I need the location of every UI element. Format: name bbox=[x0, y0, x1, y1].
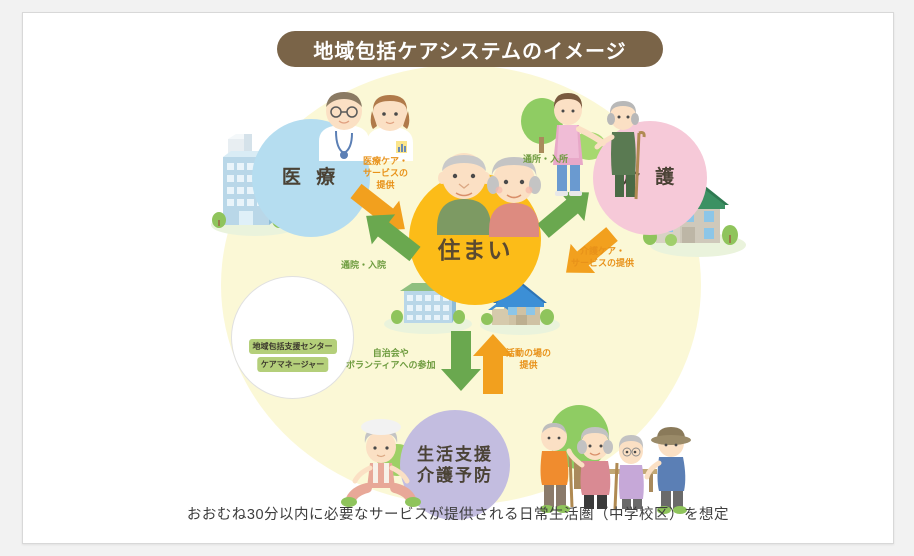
diagram-title-text: 地域包括ケアシステムのイメージ bbox=[313, 35, 626, 64]
doctor-and-nurse-icon bbox=[319, 92, 413, 161]
elder-exercising-icon bbox=[341, 419, 421, 507]
arrow-label-medical-visit: 通院・入院 bbox=[341, 259, 386, 271]
arrow-label-care-daycare-line1: 通所・入所 bbox=[523, 153, 568, 165]
caregiver-with-elder-icon bbox=[553, 93, 644, 199]
arrow-label-medical-provide-line2: サービスの bbox=[363, 167, 408, 179]
care-manager-chip-role: ケアマネージャー bbox=[257, 357, 328, 372]
arrow-label-care-provide: 介護ケア・ サービスの提供 bbox=[571, 245, 634, 269]
arrow-label-care-provide-line1: 介護ケア・ bbox=[571, 245, 634, 257]
care-manager-chip-center: 地域包括支援センター bbox=[249, 339, 337, 354]
people-illustrations bbox=[23, 13, 893, 543]
elderly-couple-icon bbox=[437, 153, 541, 237]
arrow-label-volunteer-participation: 自治会や ボランティアへの参加 bbox=[346, 347, 435, 371]
arrow-label-medical-provide: 医療ケア・ サービスの 提供 bbox=[363, 155, 408, 191]
diagram-panel: 医 療 介 護 生活支援 介護予防 住まい bbox=[22, 12, 894, 544]
arrow-label-medical-provide-line1: 医療ケア・ bbox=[363, 155, 408, 167]
arrow-label-medical-visit-line1: 通院・入院 bbox=[341, 259, 386, 271]
diagram-caption: おおむね30分以内に必要なサービスが提供される日常生活圏（中学校区）を想定 bbox=[23, 503, 893, 524]
arrow-label-activity-line2: 提供 bbox=[506, 359, 551, 371]
arrow-label-volunteer-line2: ボランティアへの参加 bbox=[346, 359, 435, 371]
arrow-label-activity-line1: 活動の場の bbox=[506, 347, 551, 359]
diagram-title-banner: 地域包括ケアシステムのイメージ bbox=[277, 31, 663, 67]
diagram-stage: 医 療 介 護 生活支援 介護予防 住まい bbox=[23, 13, 893, 543]
arrow-label-volunteer-line1: 自治会や bbox=[346, 347, 435, 359]
care-manager-circle[interactable]: 地域包括支援センター ケアマネージャー bbox=[231, 276, 354, 399]
arrow-label-activity-provision: 活動の場の 提供 bbox=[506, 347, 551, 371]
arrow-label-care-daycare: 通所・入所 bbox=[523, 153, 568, 165]
arrow-label-care-provide-line2: サービスの提供 bbox=[571, 257, 634, 269]
arrow-label-medical-provide-line3: 提供 bbox=[363, 179, 408, 191]
community-elders-group-icon bbox=[540, 423, 691, 514]
